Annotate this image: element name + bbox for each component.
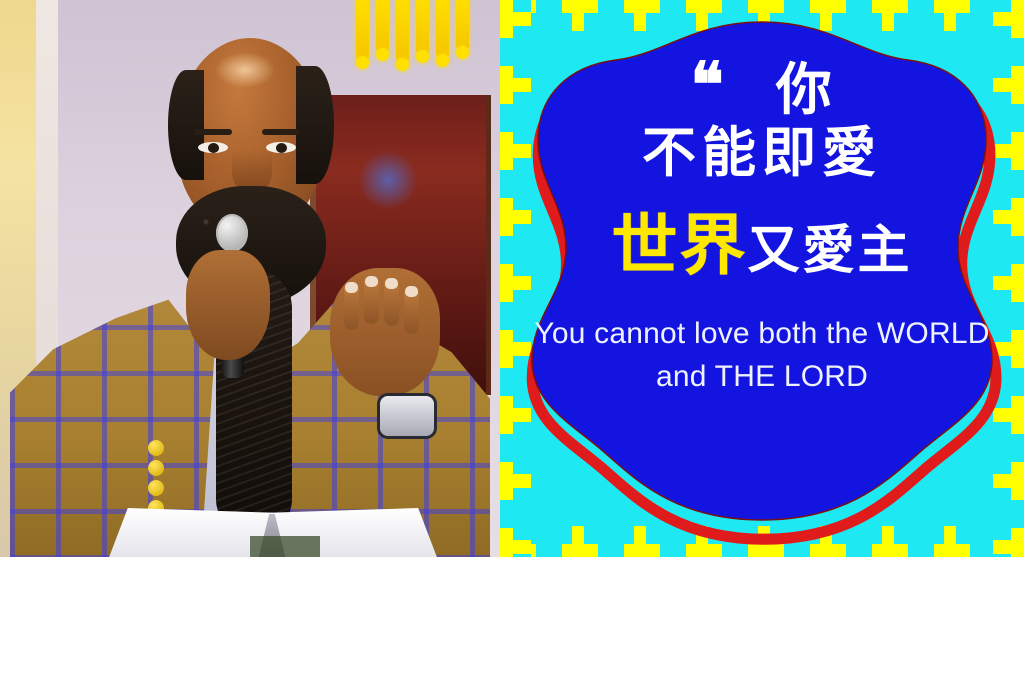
eyebrow-left: [194, 129, 232, 135]
quote-card: ❝ 你 不能即愛 世界又愛主 You cannot love both the …: [500, 0, 1024, 557]
microphone-head-icon: [216, 214, 248, 252]
hair-left: [168, 70, 204, 180]
head-highlight: [215, 52, 275, 88]
wristwatch: [380, 396, 434, 436]
eyebrow-right: [262, 129, 300, 135]
pupil-left: [208, 143, 219, 153]
poster-top-area: ❝ 你 不能即愛 世界又愛主 You cannot love both the …: [0, 0, 1024, 557]
chandelier-lights-icon: [352, 0, 482, 68]
fingernail: [385, 278, 398, 289]
caption-bar: 2015年12月01日預言冠狀病毒以及 預言了毀滅性鞓蟲之災的兩位先知 有人聲喊…: [0, 557, 1024, 682]
hand-holding-microphone: [186, 250, 270, 360]
fingernail: [405, 286, 418, 297]
fingernail: [345, 282, 358, 293]
fingernail: [365, 276, 378, 287]
book-page-text: [250, 536, 320, 557]
poster-image: ❝ 你 不能即愛 世界又愛主 You cannot love both the …: [0, 0, 1024, 682]
photo-light-reflection: [358, 150, 418, 210]
hair-right: [296, 66, 334, 184]
pupil-right: [276, 143, 287, 153]
preacher-photo: [0, 0, 500, 557]
suit-buttons: [148, 440, 170, 516]
wavy-blob-shape: [500, 0, 1024, 557]
wavy-blob-container: [500, 0, 1024, 557]
